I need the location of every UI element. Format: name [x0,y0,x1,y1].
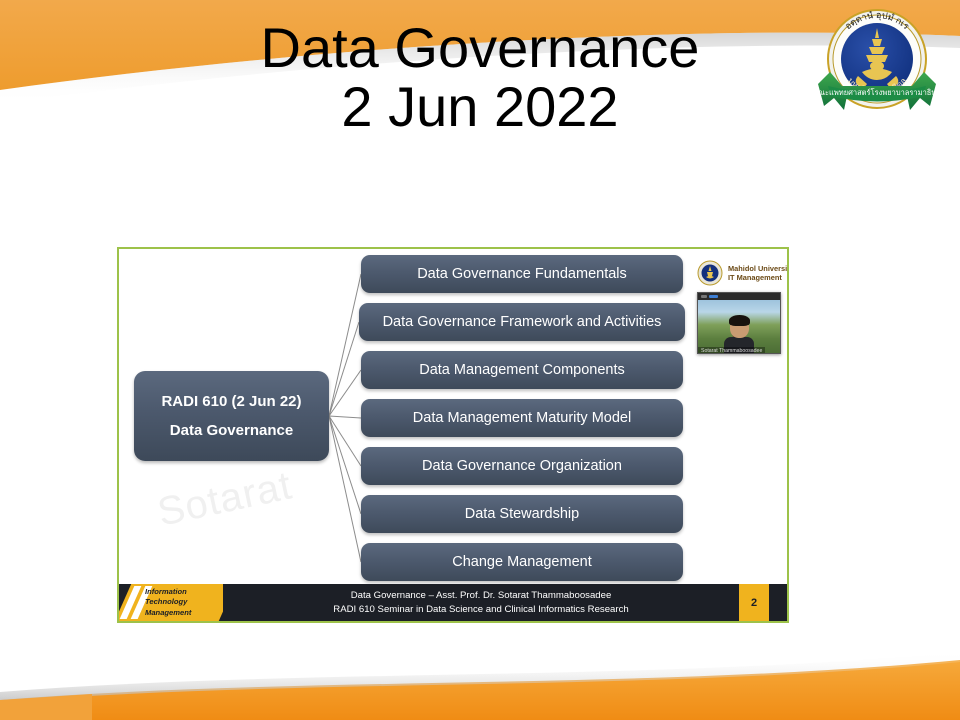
topic-label-7: Change Management [452,554,591,570]
mahidol-university-seal-icon: อตฺตานํ อุปมํ กเร มหาวิทยาลัยมหิดล คณะแพ… [812,6,942,124]
topic-box-6: Data Stewardship [361,495,683,533]
slide-page-number: 2 [739,584,769,621]
footer-credit-line-1: Data Governance – Asst. Prof. Dr. Sotara… [223,589,739,603]
mu-line-1: Mahidol University [728,264,789,273]
topic-label-2: Data Governance Framework and Activities [383,314,662,330]
itm-brand-line-1: Information [145,587,223,597]
topic-label-5: Data Governance Organization [422,458,622,474]
root-node-line-2: Data Governance [170,422,293,439]
webcam-person-head [730,317,749,338]
slide-footer: Information Technology Management Data G… [119,584,789,621]
svg-text:คณะแพทยศาสตร์โรงพยาบาลรามาธิบด: คณะแพทยศาสตร์โรงพยาบาลรามาธิบดี [813,88,941,97]
itm-brand-text: Information Technology Management [145,587,223,618]
root-node-line-1: RADI 610 (2 Jun 22) [161,393,301,410]
webcam-frame: Sotarat Thammaboosadee [698,300,780,354]
topic-label-4: Data Management Maturity Model [413,410,631,426]
topic-label-3: Data Management Components [419,362,625,378]
mindmap-root-node: RADI 610 (2 Jun 22) Data Governance [134,371,329,461]
itm-brand-badge: Information Technology Management [119,584,223,621]
topic-label-6: Data Stewardship [465,506,579,522]
mu-line-2: IT Management [728,273,789,282]
topic-box-3: Data Management Components [361,351,683,389]
topic-label-1: Data Governance Fundamentals [417,266,627,282]
mahidol-it-management-lockup: Mahidol University IT Management [697,257,787,289]
slide-footer-credit: Data Governance – Asst. Prof. Dr. Sotara… [223,589,739,617]
itm-brand-line-3: Management [145,608,223,618]
topic-box-4: Data Management Maturity Model [361,399,683,437]
webcam-video-tile: Sotarat Thammaboosadee [697,292,781,354]
topic-box-1: Data Governance Fundamentals [361,255,683,293]
mahidol-seal-small-icon [697,260,723,286]
webcam-dot-icon [701,295,707,298]
topic-box-5: Data Governance Organization [361,447,683,485]
webcam-person-hair [729,315,750,326]
webcam-participant-name: Sotarat Thammaboosadee [698,347,765,354]
itm-brand-line-2: Technology [145,597,223,607]
webcam-titlebar [698,293,780,300]
embedded-slide: Sotarat RADI 610 (2 Jun 22) Data Governa… [117,247,789,623]
footer-credit-line-2: RADI 610 Seminar in Data Science and Cli… [223,603,739,617]
topic-box-7: Change Management [361,543,683,581]
mahidol-it-management-text: Mahidol University IT Management [728,264,789,283]
topic-box-2: Data Governance Framework and Activities [359,303,685,341]
webcam-active-tab-icon [709,295,718,298]
